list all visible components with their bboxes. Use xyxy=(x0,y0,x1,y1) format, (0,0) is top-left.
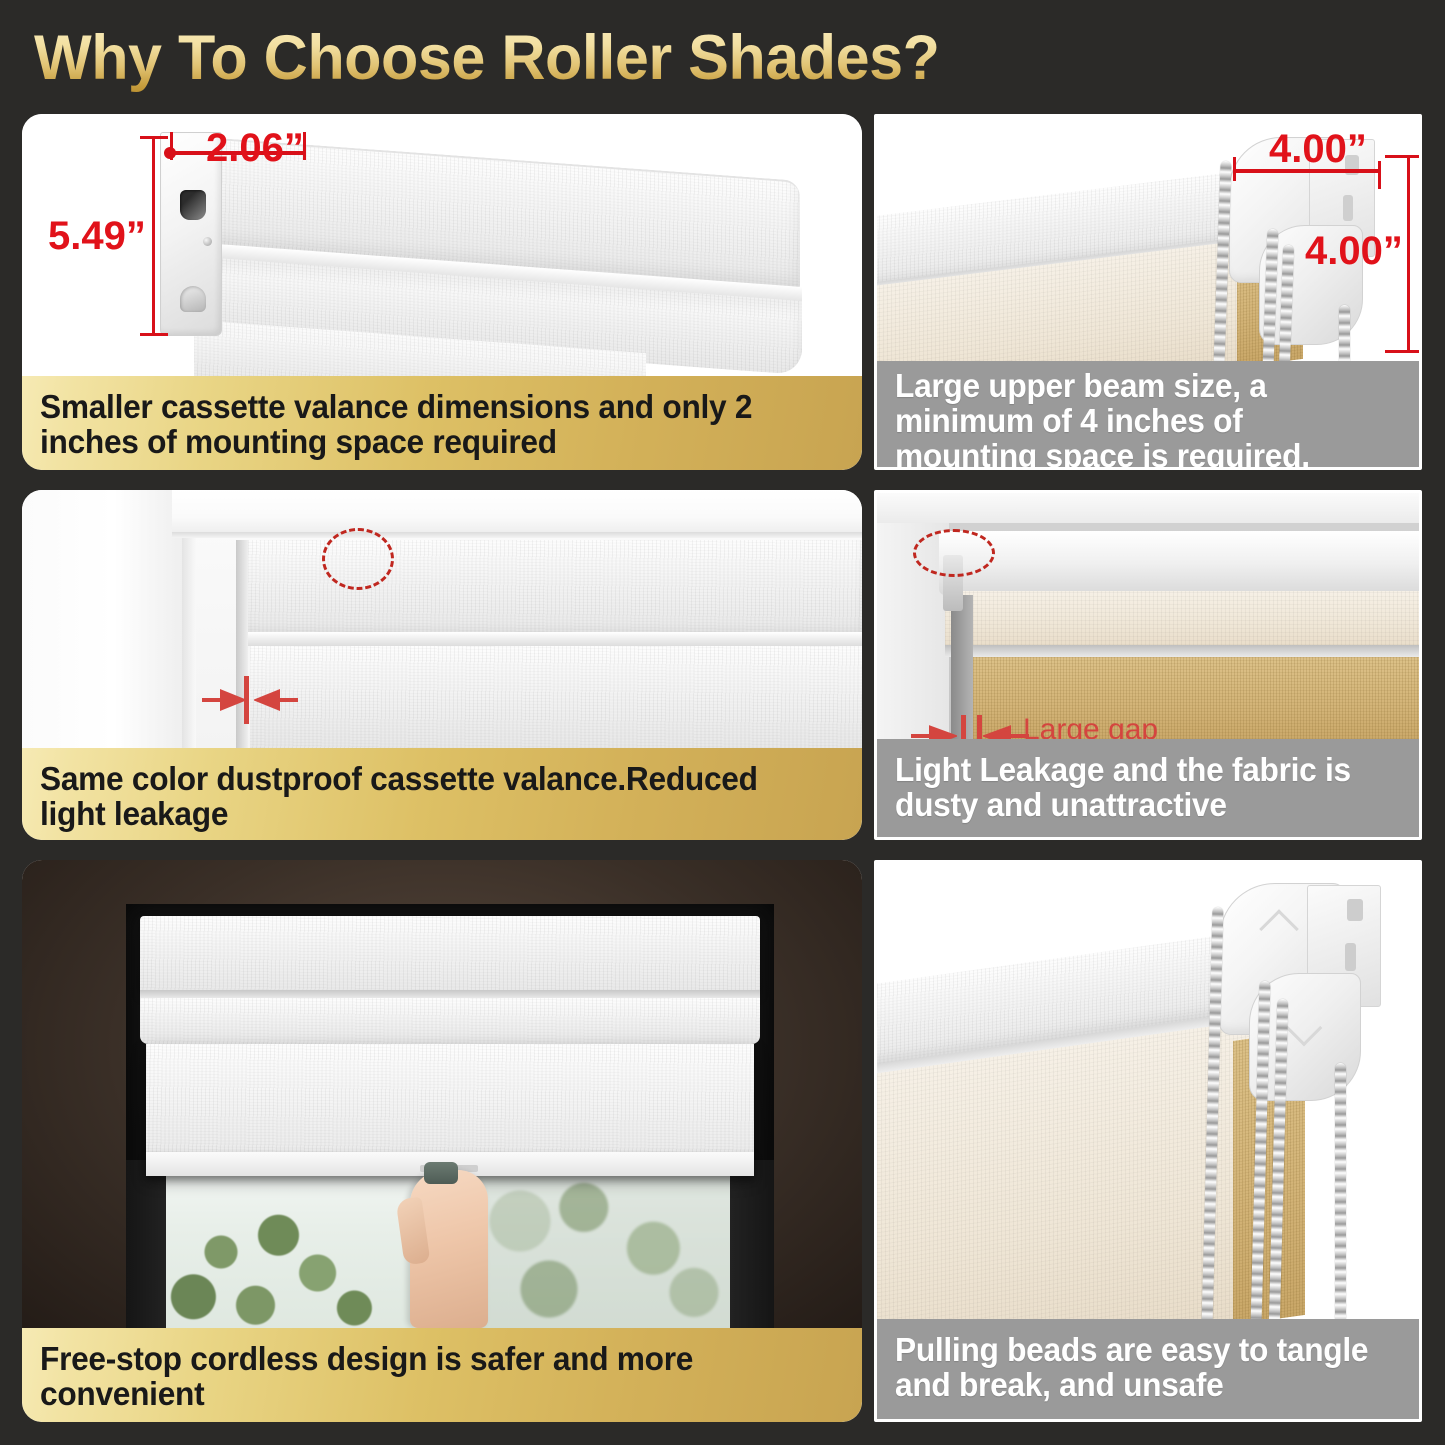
highlight-circle-icon xyxy=(322,528,394,590)
panel-5-image xyxy=(22,860,862,1328)
dim-height-tick-bottom xyxy=(140,333,168,336)
dim-height-line xyxy=(152,136,155,336)
rail-under-shadow xyxy=(945,645,1419,657)
panel-4-caption: Light Leakage and the fabric is dusty an… xyxy=(877,739,1419,837)
infographic-page: Why To Choose Roller Shades? 2.06” xyxy=(0,0,1445,1445)
bead-chain-loop-tail-2[interactable] xyxy=(1335,1063,1346,1325)
panel-3-caption-text: Same color dustproof cassette valance.Re… xyxy=(40,762,812,832)
panel-2-caption-text: Large upper beam size, a minimum of 4 in… xyxy=(895,369,1381,470)
panel-3-caption: Same color dustproof cassette valance.Re… xyxy=(22,748,862,840)
dim-height-label: 5.49” xyxy=(48,214,146,259)
dim-width-tick-left-2 xyxy=(1233,157,1236,181)
panel-5-caption: Free-stop cordless design is safer and m… xyxy=(22,1328,862,1422)
shade-fabric-white xyxy=(250,646,862,748)
dim-width-tick-right-2 xyxy=(1378,161,1381,189)
bracket-slot-upper xyxy=(180,190,206,220)
panel-middle-right: Large gap Light Leakage and the fabric i… xyxy=(874,490,1422,840)
tree-foliage-left xyxy=(162,1196,382,1328)
dim-height-tick-bottom-2 xyxy=(1385,350,1419,353)
panel-6-image xyxy=(877,863,1419,1325)
valance-front-roll xyxy=(140,998,760,1044)
panel-2-image: 4.00” 4.00” xyxy=(877,117,1419,367)
window-frame-top-casing xyxy=(172,490,862,536)
dim-height-line-2 xyxy=(1407,155,1410,353)
dim-height-tick-top xyxy=(140,136,168,139)
panel-bottom-left: Free-stop cordless design is safer and m… xyxy=(22,860,862,1422)
window-sash-right xyxy=(730,1160,774,1328)
head-rail xyxy=(939,531,1419,595)
panel-6-caption: Pulling beads are easy to tangle and bre… xyxy=(877,1319,1419,1419)
panel-6-caption-text: Pulling beads are easy to tangle and bre… xyxy=(895,1333,1381,1403)
bracket-screw-mid xyxy=(203,237,212,246)
panel-1-caption-text: Smaller cassette valance dimensions and … xyxy=(40,390,812,460)
bracket-slot-a2 xyxy=(1347,899,1363,921)
gap-arrow-left-icon xyxy=(202,689,246,711)
panel-top-left: 2.06” 5.49” Smaller cassette valance dim… xyxy=(22,114,862,470)
dim-width-dot xyxy=(164,147,176,159)
ceiling-strip-top xyxy=(877,493,1419,523)
panel-1-caption: Smaller cassette valance dimensions and … xyxy=(22,376,862,470)
gap-arrow-right-icon xyxy=(254,689,298,711)
panel-middle-left: smaller gap Same color dustproof cassett… xyxy=(22,490,862,840)
title-bar: Why To Choose Roller Shades? xyxy=(34,16,1414,100)
dim-height-label-2: 4.00” xyxy=(1305,229,1403,274)
cassette-valance-head xyxy=(140,916,760,994)
panel-2-caption: Large upper beam size, a minimum of 4 in… xyxy=(877,361,1419,467)
bracket-slot-lower xyxy=(180,286,206,312)
shade-fabric-cream-band xyxy=(945,591,1419,649)
hand-grip-pinch xyxy=(424,1162,458,1184)
valance-bottom-lip xyxy=(244,632,862,646)
panel-top-right: 4.00” 4.00” Large upper beam size, a min… xyxy=(874,114,1422,470)
panel-4-caption-text: Light Leakage and the fabric is dusty an… xyxy=(895,753,1381,823)
panel-4-image: Large gap xyxy=(877,493,1419,745)
dim-height-tick-top-2 xyxy=(1385,155,1419,158)
tree-foliage-right xyxy=(462,1170,734,1328)
bracket-slot-b xyxy=(1343,195,1353,221)
panel-bottom-right: Pulling beads are easy to tangle and bre… xyxy=(874,860,1422,1422)
bracket-slot-b2 xyxy=(1345,943,1356,971)
window-frame-left xyxy=(22,490,190,748)
shade-fabric-cream-2 xyxy=(877,1021,1249,1325)
highlight-circle-icon-2 xyxy=(913,529,995,577)
window-sash-left xyxy=(126,1160,166,1328)
dim-width-label-2: 4.00” xyxy=(1269,127,1367,172)
panel-1-image: 2.06” 5.49” xyxy=(22,114,862,376)
window-frame-top-shadow xyxy=(172,532,862,538)
bead-chain-loop-tail[interactable] xyxy=(1339,305,1350,367)
page-title: Why To Choose Roller Shades? xyxy=(34,22,939,94)
panel-5-caption-text: Free-stop cordless design is safer and m… xyxy=(40,1342,812,1412)
dim-width-label: 2.06” xyxy=(206,126,304,171)
panel-3-image: smaller gap xyxy=(22,490,862,748)
